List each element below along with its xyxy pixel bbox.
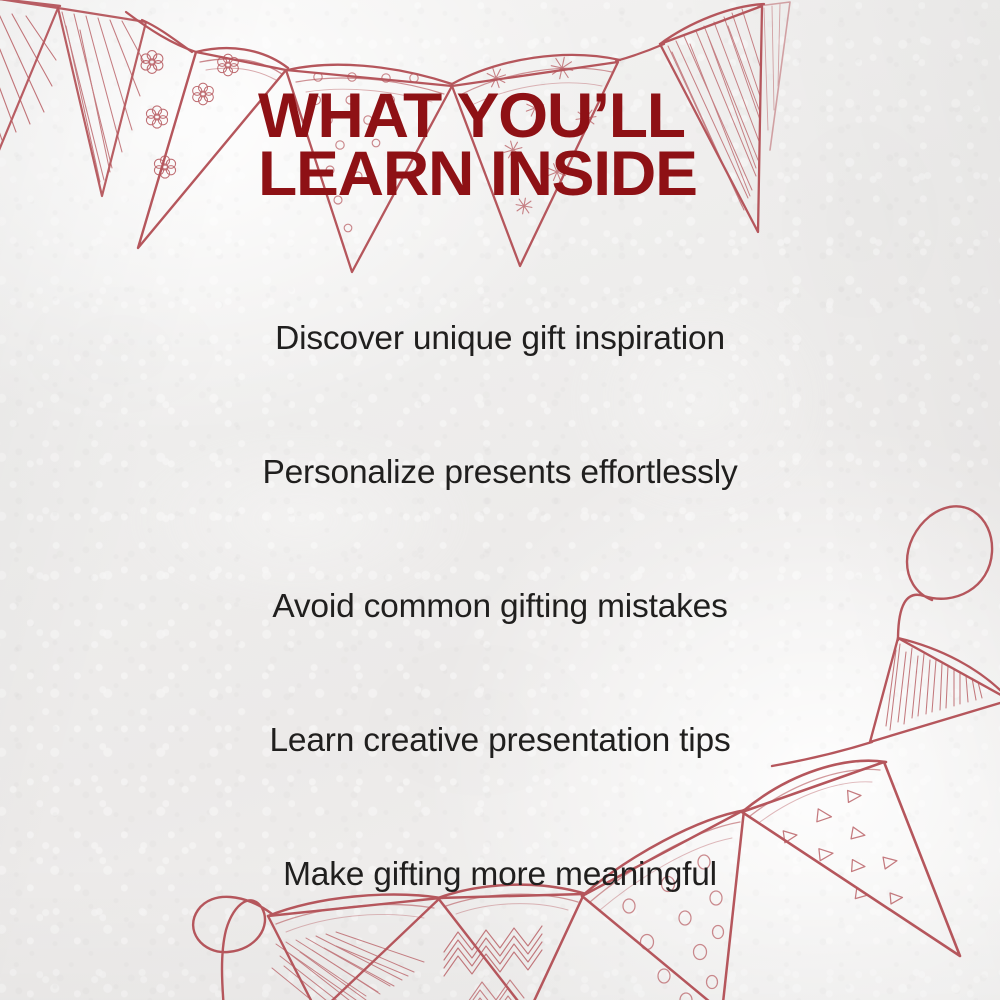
list-item-label: Avoid common gifting mistakes (272, 588, 727, 626)
page-title: WHAT YOU’LL LEARN INSIDE (258, 88, 890, 204)
list-item-label: Make gifting more meaningful (283, 856, 717, 894)
list-item: Discover unique gift inspiration (0, 272, 1000, 406)
list-item: Avoid common gifting mistakes (0, 540, 1000, 674)
poster-canvas: WHAT YOU’LL LEARN INSIDE Discover unique… (0, 0, 1000, 1000)
page-title-line-2: LEARN INSIDE (258, 146, 890, 204)
list-item: Learn creative presentation tips (0, 674, 1000, 808)
list-item-label: Learn creative presentation tips (269, 722, 730, 760)
list-item-label: Discover unique gift inspiration (275, 320, 725, 358)
list-item: Personalize presents effortlessly (0, 406, 1000, 540)
page-title-line-1: WHAT YOU’LL (258, 88, 890, 146)
list-item: Make gifting more meaningful (0, 808, 1000, 942)
benefits-list: Discover unique gift inspiration Persona… (0, 272, 1000, 942)
list-item-label: Personalize presents effortlessly (262, 454, 737, 492)
